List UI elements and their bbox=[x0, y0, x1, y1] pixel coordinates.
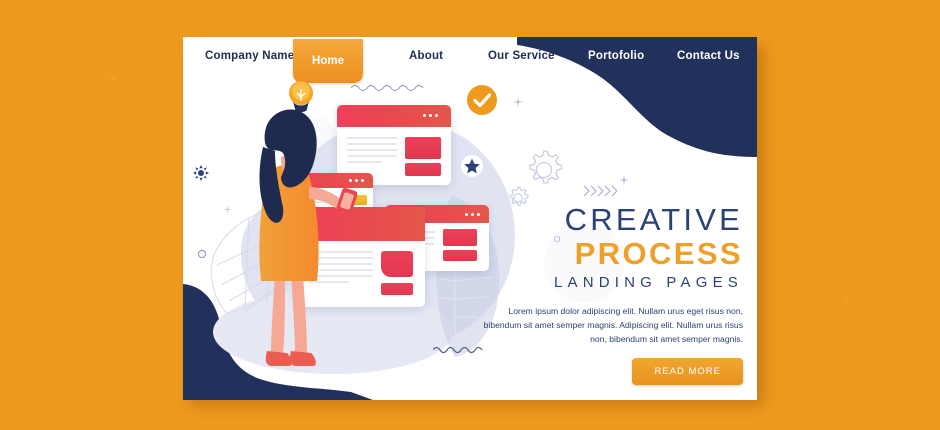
nav-item-portofolio[interactable]: Portofolio bbox=[588, 50, 644, 62]
chevrons-icon bbox=[583, 185, 617, 197]
landing-page-card: Company Name Home About Our Service Port… bbox=[183, 37, 757, 400]
hero-copy: CREATIVE PROCESS LANDING PAGES Lorem ips… bbox=[473, 204, 743, 385]
nav-item-contact-us[interactable]: Contact Us bbox=[677, 50, 740, 62]
sparkle-icon bbox=[619, 175, 629, 185]
sparkle-icon bbox=[513, 97, 523, 107]
nav-item-our-service[interactable]: Our Service bbox=[488, 50, 555, 62]
read-more-button[interactable]: READ MORE bbox=[632, 358, 743, 385]
mockup-4-block-a bbox=[443, 229, 477, 246]
hero-paragraph: Lorem ipsum dolor adipiscing elit. Nulla… bbox=[473, 304, 743, 347]
mockup-4-block-b bbox=[443, 250, 477, 261]
brand-company-name[interactable]: Company Name bbox=[205, 50, 294, 62]
circle-outline-icon bbox=[197, 249, 207, 259]
wave-line-icon bbox=[351, 83, 427, 93]
mockup-3-block-b bbox=[381, 283, 413, 295]
nav-item-about[interactable]: About bbox=[409, 50, 443, 62]
mockup-1-block-a bbox=[405, 137, 441, 159]
hero-title-line2: PROCESS bbox=[473, 237, 743, 271]
check-badge-icon bbox=[467, 85, 497, 115]
star-badge-icon bbox=[461, 155, 483, 177]
hero-title-line1: CREATIVE bbox=[473, 204, 743, 237]
hero-subtitle: LANDING PAGES bbox=[473, 274, 743, 291]
character-woman bbox=[227, 103, 357, 373]
mockup-3-block-a bbox=[381, 251, 413, 277]
mockup-1-block-b bbox=[405, 163, 441, 176]
flower-icon bbox=[193, 165, 209, 181]
mockup-1-window-dots bbox=[423, 114, 438, 117]
